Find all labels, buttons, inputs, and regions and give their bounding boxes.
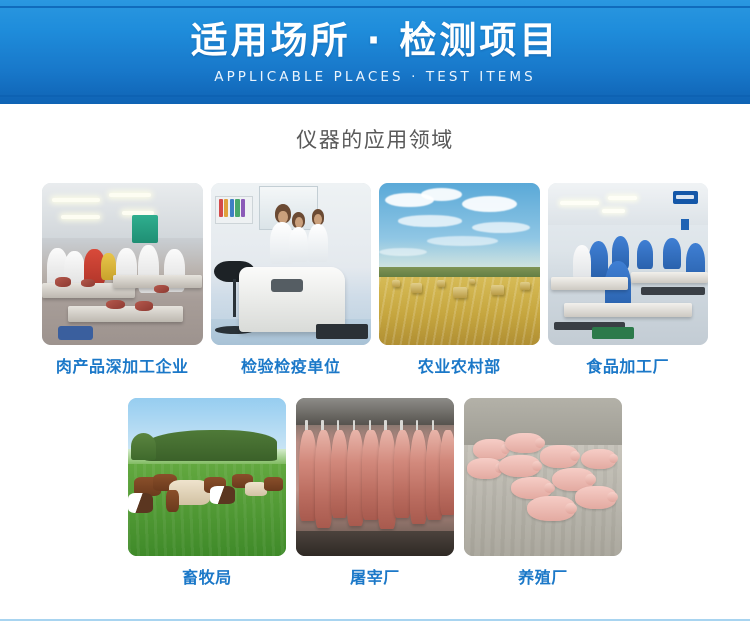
applicable-places-page: 适用场所 · 检测项目 APPLICABLE PLACES · TEST ITE…: [0, 0, 750, 628]
food-processing-factory-photo: [548, 183, 709, 345]
slaughterhouse-carcasses-photo: [296, 398, 454, 556]
inspection-quarantine-lab-photo: [211, 183, 372, 345]
application-card-agriculture-ministry[interactable]: 农业农村部: [379, 183, 540, 378]
card-caption: 肉产品深加工企业: [56, 356, 189, 378]
application-card-inspection-quarantine[interactable]: 检验检疫单位: [211, 183, 372, 378]
farmland-hay-bales-photo: [379, 183, 540, 345]
card-caption: 食品加工厂: [586, 356, 669, 378]
card-caption: 检验检疫单位: [241, 356, 341, 378]
application-card-breeding-farm[interactable]: 养殖厂: [464, 398, 622, 589]
page-banner: 适用场所 · 检测项目 APPLICABLE PLACES · TEST ITE…: [0, 0, 750, 104]
card-caption: 屠宰厂: [350, 567, 400, 589]
application-card-meat-processing[interactable]: 肉产品深加工企业: [42, 183, 203, 378]
card-caption: 养殖厂: [518, 567, 568, 589]
card-caption: 畜牧局: [182, 567, 232, 589]
applications-row-1: 肉产品深加工企业: [42, 183, 708, 378]
banner-subtitle: APPLICABLE PLACES · TEST ITEMS: [214, 67, 536, 87]
applications-row-2: 畜牧局: [128, 398, 622, 589]
banner-content: 适用场所 · 检测项目 APPLICABLE PLACES · TEST ITE…: [0, 0, 750, 104]
section-heading: 仪器的应用领域: [0, 125, 750, 155]
bottom-divider: [0, 619, 750, 621]
cattle-pasture-photo: [128, 398, 286, 556]
application-card-animal-husbandry-bureau[interactable]: 畜牧局: [128, 398, 286, 589]
meat-processing-plant-photo: [42, 183, 203, 345]
piglet-farm-photo: [464, 398, 622, 556]
application-card-food-factory[interactable]: 食品加工厂: [548, 183, 709, 378]
application-card-slaughterhouse[interactable]: 屠宰厂: [296, 398, 454, 589]
card-caption: 农业农村部: [418, 356, 501, 378]
banner-title: 适用场所 · 检测项目: [191, 18, 560, 64]
